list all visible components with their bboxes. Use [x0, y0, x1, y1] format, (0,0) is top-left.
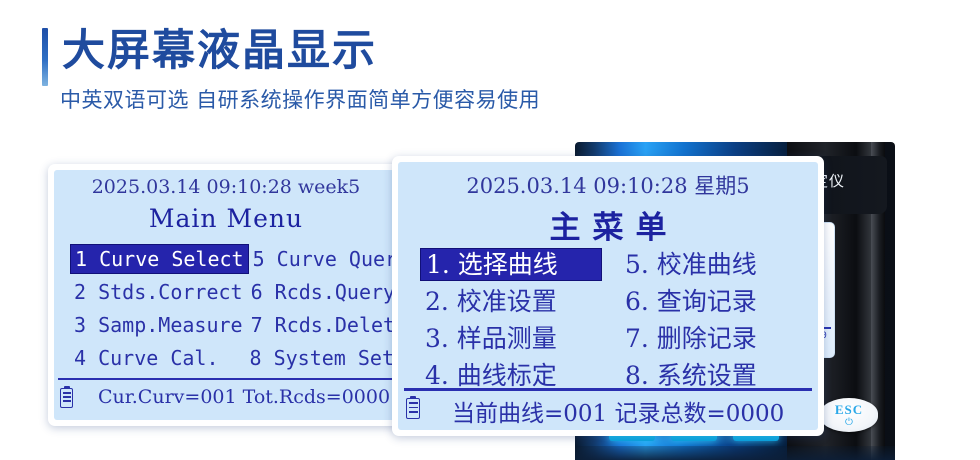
lcd-screen-chinese: 2025.03.14 09:10:28 星期5 主菜单 1. 选择曲线 5. 校… — [392, 156, 824, 436]
status-datetime-cn: 2025.03.14 09:10:28 星期5 — [398, 170, 818, 200]
menu-item-stds-correct[interactable]: 2 Stds.Correct — [70, 278, 247, 306]
menu-row: 1. 选择曲线 5. 校准曲线 — [398, 246, 818, 283]
menu-item-curve-cal[interactable]: 4 Curve Cal. — [70, 344, 246, 372]
page-subtitle: 中英双语可选 自研系统操作界面简单方便容易使用 — [60, 84, 540, 114]
menu-item-sample-measure[interactable]: 3. 样品测量 — [420, 323, 602, 354]
menu-item-delete-records[interactable]: 7. 删除记录 — [620, 323, 810, 354]
menu-row: 2 Stds.Correct 6 Rcds.Query — [54, 275, 398, 308]
page-title: 大屏幕液晶显示 — [62, 22, 377, 80]
footer-divider-en — [58, 378, 394, 380]
menu-row: 3. 样品测量 7. 删除记录 — [398, 320, 818, 357]
menu-item-query-records[interactable]: 6. 查询记录 — [620, 286, 810, 317]
menu-row: 2. 校准设置 6. 查询记录 — [398, 283, 818, 320]
menu-item-rcds-delete[interactable]: 7 Rcds.Delete — [247, 311, 398, 339]
menu-item-select-curve[interactable]: 1. 选择曲线 — [420, 248, 602, 281]
menu-title-cn: 主菜单 — [398, 202, 818, 247]
title-accent-bar — [42, 28, 48, 86]
menu-row: 3 Samp.Measure 7 Rcds.Delete — [54, 308, 398, 341]
battery-icon — [60, 388, 73, 408]
footer-divider-cn — [404, 388, 812, 391]
menu-title-en: Main Menu — [54, 204, 398, 233]
menu-item-curve-query[interactable]: 5 Curve Query — [249, 245, 398, 273]
status-datetime-en: 2025.03.14 09:10:28 week5 — [54, 176, 398, 198]
status-footer-cn: 当前曲线=001 记录总数=0000 — [452, 394, 784, 428]
menu-row: 1 Curve Select 5 Curve Query — [54, 242, 398, 275]
menu-item-rcds-query[interactable]: 6 Rcds.Query — [247, 278, 398, 306]
esc-key-button[interactable]: ESC ⏻ — [820, 398, 878, 432]
menu-item-system-settings[interactable]: 8. 系统设置 — [620, 360, 810, 391]
esc-key-label: ESC — [820, 402, 878, 418]
page-header: 大屏幕液晶显示 中英双语可选 自研系统操作界面简单方便容易使用 — [0, 0, 980, 128]
battery-icon — [406, 398, 420, 419]
menu-row: 4 Curve Cal. 8 System Set — [54, 341, 398, 374]
lcd-screen-english-surface: 2025.03.14 09:10:28 week5 Main Menu 1 Cu… — [54, 170, 398, 420]
status-footer-en: Cur.Curv=001 Tot.Rcds=0000 — [98, 386, 390, 408]
power-icon: ⏻ — [820, 418, 878, 427]
menu-item-samp-measure[interactable]: 3 Samp.Measure — [70, 311, 247, 339]
device-bottom-shade — [575, 446, 895, 460]
menu-item-curve-select[interactable]: 1 Curve Select — [70, 244, 249, 274]
menu-grid-cn: 1. 选择曲线 5. 校准曲线 2. 校准设置 6. 查询记录 3. 样品测量 … — [398, 246, 818, 394]
menu-grid-en: 1 Curve Select 5 Curve Query 2 Stds.Corr… — [54, 242, 398, 374]
menu-item-calibration-settings[interactable]: 2. 校准设置 — [420, 286, 602, 317]
lcd-screen-chinese-surface: 2025.03.14 09:10:28 星期5 主菜单 1. 选择曲线 5. 校… — [398, 162, 818, 430]
menu-item-curve-calibration[interactable]: 4. 曲线标定 — [420, 360, 602, 391]
lcd-screen-english: 2025.03.14 09:10:28 week5 Main Menu 1 Cu… — [48, 164, 404, 426]
menu-item-calibrate-curve[interactable]: 5. 校准曲线 — [620, 249, 810, 280]
menu-item-system-set[interactable]: 8 System Set — [246, 344, 399, 372]
